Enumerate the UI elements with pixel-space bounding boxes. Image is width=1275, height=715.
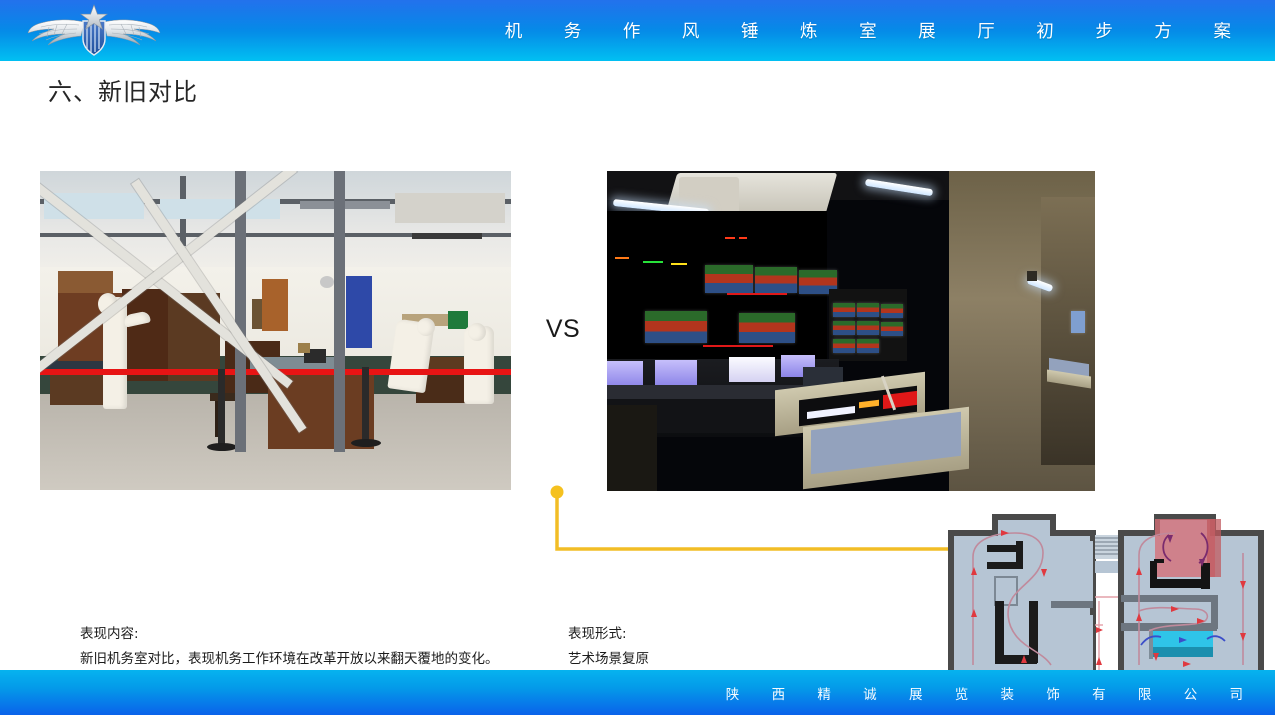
caption-left: 表现内容: 新旧机务室对比，表现机务工作环境在改革开放以来翻天覆地的变化。: [80, 622, 499, 672]
photo-old-maintenance-room[interactable]: [40, 171, 511, 490]
caption-left-heading: 表现内容:: [80, 622, 499, 647]
caption-right-heading: 表现形式:: [568, 622, 649, 647]
photo-right-content: [607, 171, 1095, 491]
slide-header: 机 务 作 风 锤 炼 室 展 厅 初 步 方 案: [0, 0, 1275, 61]
caption-right: 表现形式: 艺术场景复原: [568, 622, 649, 672]
caption-left-body: 新旧机务室对比，表现机务工作环境在改革开放以来翻天覆地的变化。: [80, 647, 499, 672]
air-force-wings-badge-logo: [27, 3, 161, 58]
vs-label: VS: [540, 315, 586, 344]
caption-right-body: 艺术场景复原: [568, 647, 649, 672]
slide-footer: 陕 西 精 诚 展 览 装 饰 有 限 公 司: [0, 670, 1275, 715]
presentation-slide: 机 务 作 风 锤 炼 室 展 厅 初 步 方 案 六、新旧对比: [0, 0, 1275, 715]
photo-left-content: [40, 171, 511, 490]
page-title: 六、新旧对比: [48, 72, 198, 107]
photo-new-control-room[interactable]: [607, 171, 1095, 491]
header-title: 机 务 作 风 锤 炼 室 展 厅 初 步 方 案: [487, 0, 1249, 61]
footer-company-name: 陕 西 精 诚 展 览 装 饰 有 限 公 司: [712, 670, 1257, 715]
